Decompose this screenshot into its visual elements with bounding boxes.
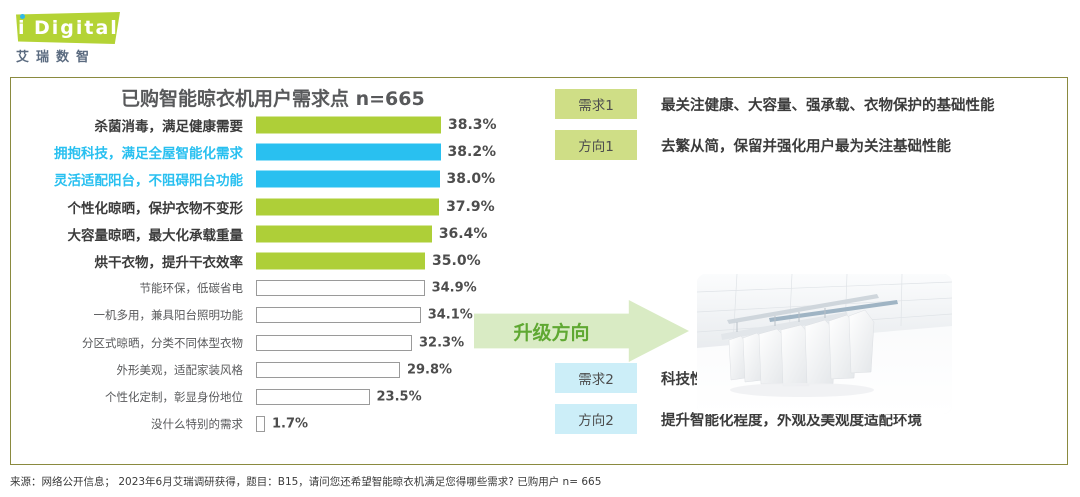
- chart-row-label: 杀菌消毒，满足健康需要: [95, 115, 244, 135]
- chart-row-label: 节能环保，低碳省电: [140, 280, 244, 296]
- brand-logo: i Digital 艾瑞数智: [8, 8, 208, 68]
- chart-row: 外形美观，适配家装风格29.8%: [11, 358, 511, 382]
- chart-row-label: 外形美观，适配家装风格: [117, 362, 244, 378]
- chart-bar: [256, 389, 370, 405]
- insight-badge: 需求2: [555, 363, 637, 393]
- chart-row: 拥抱科技，满足全屋智能化需求38.2%: [11, 140, 511, 164]
- product-photo: [697, 274, 952, 414]
- chart-bar: [256, 253, 425, 270]
- chart-row-label: 分区式晾晒，分类不同体型衣物: [82, 335, 243, 351]
- chart-bar: [256, 117, 441, 134]
- chart-value-label: 37.9%: [446, 199, 495, 215]
- chart-row-label: 烘干衣物，提升干衣效率: [95, 251, 244, 271]
- insight-badge: 需求1: [555, 89, 637, 119]
- bar-chart: 已购智能晾衣机用户需求点 n=665 杀菌消毒，满足健康需要38.3%拥抱科技，…: [11, 78, 511, 464]
- chart-row-label: 没什么特别的需求: [151, 416, 243, 432]
- chart-row: 没什么特别的需求1.7%: [11, 412, 511, 436]
- logo-letter-i: i: [18, 18, 26, 38]
- insight-badge: 方向1: [555, 130, 637, 160]
- chart-bar: [256, 335, 412, 351]
- chart-value-label: 38.2%: [448, 144, 497, 160]
- logo-chinese-name: 艾瑞数智: [16, 46, 96, 65]
- chart-bar: [256, 198, 439, 215]
- chart-row-label: 灵活适配阳台，不阻碍阳台功能: [54, 169, 243, 189]
- chart-row-label: 个性化晾晒，保护衣物不变形: [68, 197, 244, 217]
- source-note: 来源：网络公开信息； 2023年6月艾瑞调研获得，题目：B15，请问您还希望智能…: [10, 474, 601, 489]
- chart-value-label: 34.1%: [428, 308, 473, 323]
- chart-bar: [256, 144, 441, 161]
- insight-text: 最关注健康、大容量、强承载、衣物保护的基础性能: [661, 89, 995, 119]
- chart-row: 分区式晾晒，分类不同体型衣物32.3%: [11, 331, 511, 355]
- chart-row-label: 一机多用，兼具阳台照明功能: [94, 307, 244, 323]
- insight-badge: 方向2: [555, 404, 637, 434]
- chart-bar: [256, 416, 265, 432]
- chart-bar: [256, 362, 400, 378]
- chart-bar: [256, 171, 440, 188]
- chart-value-label: 36.4%: [439, 226, 488, 242]
- chart-row-label: 拥抱科技，满足全屋智能化需求: [54, 142, 243, 162]
- chart-value-label: 1.7%: [272, 417, 308, 432]
- chart-row: 一机多用，兼具阳台照明功能34.1%: [11, 303, 511, 327]
- logo-wordmark: Digital: [34, 16, 119, 40]
- chart-row: 大容量晾晒，最大化承载重量36.4%: [11, 222, 511, 246]
- chart-value-label: 38.0%: [447, 171, 496, 187]
- chart-row: 个性化晾晒，保护衣物不变形37.9%: [11, 195, 511, 219]
- chart-value-label: 38.3%: [448, 117, 497, 133]
- chart-value-label: 32.3%: [419, 335, 464, 350]
- chart-title: 已购智能晾衣机用户需求点 n=665: [121, 84, 425, 111]
- chart-value-label: 35.0%: [432, 253, 481, 269]
- chart-value-label: 34.9%: [432, 281, 477, 296]
- chart-bar: [256, 225, 432, 242]
- insight-text: 去繁从简，保留并强化用户最为关注基础性能: [661, 130, 951, 160]
- product-photo-illustration: [697, 274, 952, 414]
- chart-row: 杀菌消毒，满足健康需要38.3%: [11, 113, 511, 137]
- chart-row: 个性化定制，彰显身份地位23.5%: [11, 385, 511, 409]
- chart-value-label: 23.5%: [377, 390, 422, 405]
- chart-bar: [256, 280, 425, 296]
- chart-row: 节能环保，低碳省电34.9%: [11, 276, 511, 300]
- content-card: 已购智能晾衣机用户需求点 n=665 杀菌消毒，满足健康需要38.3%拥抱科技，…: [10, 77, 1068, 465]
- chart-row-label: 个性化定制，彰显身份地位: [105, 389, 243, 405]
- chart-value-label: 29.8%: [407, 362, 452, 377]
- upgrade-direction-label: 升级方向: [474, 300, 629, 362]
- chart-row: 烘干衣物，提升干衣效率35.0%: [11, 249, 511, 273]
- chart-bar: [256, 307, 421, 323]
- chart-row: 灵活适配阳台，不阻碍阳台功能38.0%: [11, 167, 511, 191]
- chart-row-label: 大容量晾晒，最大化承载重量: [68, 224, 244, 244]
